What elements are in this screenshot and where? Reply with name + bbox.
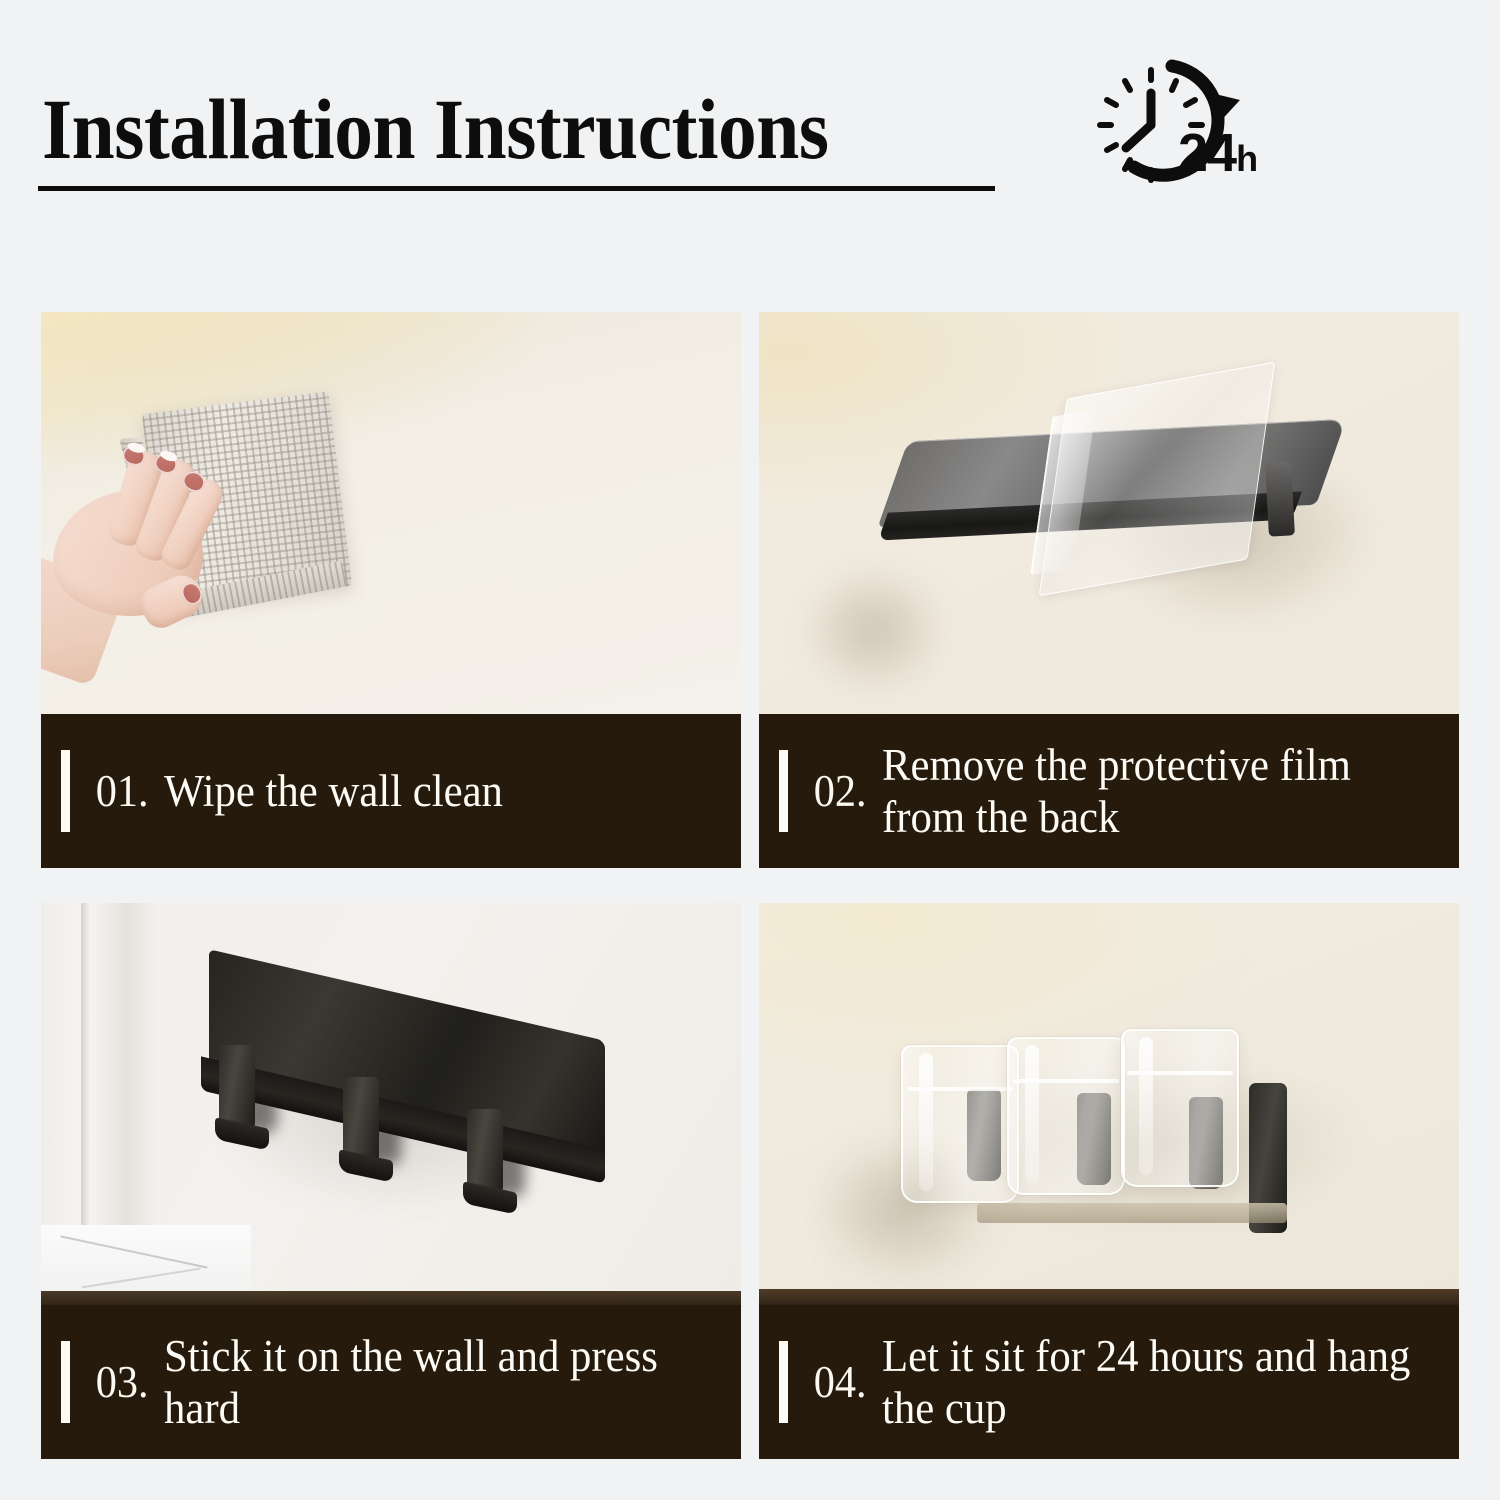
caption-accent-bar xyxy=(61,750,70,832)
glass-cup-1 xyxy=(901,1045,1019,1203)
caption-accent-bar xyxy=(61,1341,70,1423)
dark-counter-strip xyxy=(41,1291,741,1305)
title-underline-rule xyxy=(38,186,995,191)
clock-badge-label: 24h xyxy=(1178,126,1257,180)
glass-cup-3 xyxy=(1121,1029,1239,1187)
step-caption-01: 01. Wipe the wall clean xyxy=(41,714,741,868)
step-card-01: 01. Wipe the wall clean xyxy=(41,312,741,868)
step-label: Let it sit for 24 hours and hang the cup xyxy=(882,1330,1422,1434)
step-photo-02 xyxy=(759,312,1459,714)
step-card-03: 03. Stick it on the wall and press hard xyxy=(41,903,741,1459)
step-number: 02. xyxy=(814,769,867,814)
clock-badge-hours: 24 xyxy=(1178,123,1236,183)
step-photo-04 xyxy=(759,903,1459,1305)
steps-grid: 01. Wipe the wall clean 02. Remove the p… xyxy=(41,312,1459,1459)
rack-hook-2 xyxy=(343,1077,379,1165)
rack-hook-1 xyxy=(219,1045,255,1133)
caption-accent-bar xyxy=(779,750,788,832)
caption-accent-bar xyxy=(779,1341,788,1423)
step-caption-02: 02. Remove the protective film from the … xyxy=(759,714,1459,868)
ambient-shadow xyxy=(779,562,969,714)
clock-badge-unit: h xyxy=(1236,138,1257,179)
page-title: Installation Instructions xyxy=(42,86,829,172)
step-card-04: 04. Let it sit for 24 hours and hang the… xyxy=(759,903,1459,1459)
step-number: 04. xyxy=(814,1360,867,1405)
step-label: Wipe the wall clean xyxy=(164,765,503,817)
step-label: Remove the protective film from the back xyxy=(882,739,1422,843)
step-number: 03. xyxy=(96,1360,149,1405)
step-photo-01 xyxy=(41,312,741,714)
hand xyxy=(41,452,281,682)
step-photo-03 xyxy=(41,903,741,1305)
rack-base-lip xyxy=(977,1203,1287,1223)
step-caption-04: 04. Let it sit for 24 hours and hang the… xyxy=(759,1305,1459,1459)
installation-instructions-page: Installation Instructions xyxy=(0,0,1500,1500)
glass-cup-2 xyxy=(1007,1037,1125,1195)
page-header: Installation Instructions xyxy=(0,0,1500,300)
rack-hook-3 xyxy=(467,1109,503,1197)
dark-counter-strip xyxy=(759,1289,1459,1305)
step-caption-03: 03. Stick it on the wall and press hard xyxy=(41,1305,741,1459)
rack-side-lip xyxy=(1265,461,1295,536)
step-label: Stick it on the wall and press hard xyxy=(164,1330,704,1434)
clock-24h-badge: 24h xyxy=(1068,48,1260,204)
step-number: 01. xyxy=(96,769,149,814)
step-card-02: 02. Remove the protective film from the … xyxy=(759,312,1459,868)
